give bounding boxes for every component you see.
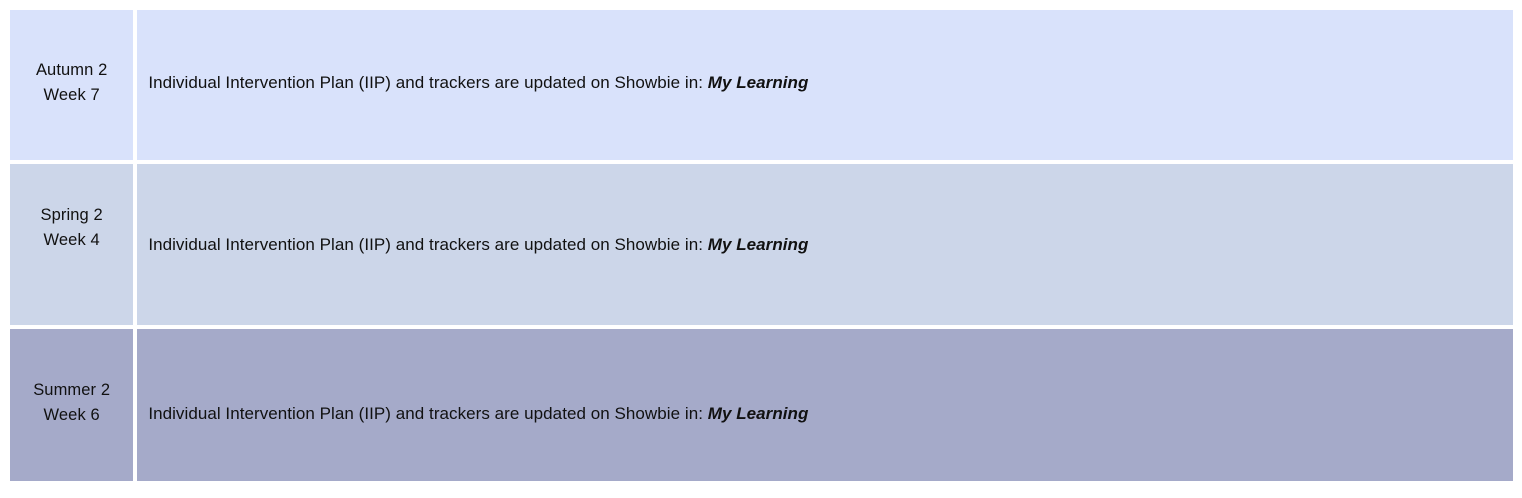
body-cell-inner: Individual Intervention Plan (IIP) and t… <box>137 402 1513 426</box>
intervention-schedule-table: Autumn 2 Week 7 Individual Intervention … <box>10 10 1513 481</box>
term-label: Summer 2 Week 6 <box>10 378 133 428</box>
table-body: Autumn 2 Week 7 Individual Intervention … <box>10 10 1513 481</box>
body-text-emphasis: My Learning <box>708 235 809 254</box>
body-text-prefix: Individual Intervention Plan (IIP) and t… <box>148 73 707 92</box>
body-cell-spring: Individual Intervention Plan (IIP) and t… <box>137 164 1513 329</box>
term-cell-spring: Spring 2 Week 4 <box>10 164 137 329</box>
body-text-prefix: Individual Intervention Plan (IIP) and t… <box>148 404 707 423</box>
term-label: Autumn 2 Week 7 <box>10 58 133 108</box>
body-text: Individual Intervention Plan (IIP) and t… <box>137 233 1513 257</box>
page-canvas: Autumn 2 Week 7 Individual Intervention … <box>0 0 1522 498</box>
term-label: Spring 2 Week 4 <box>10 203 133 253</box>
body-text: Individual Intervention Plan (IIP) and t… <box>137 71 1513 95</box>
table-row: Autumn 2 Week 7 Individual Intervention … <box>10 10 1513 164</box>
body-cell-inner: Individual Intervention Plan (IIP) and t… <box>137 71 1513 95</box>
table-row: Summer 2 Week 6 Individual Intervention … <box>10 329 1513 481</box>
term-cell-inner: Spring 2 Week 4 <box>10 203 133 253</box>
term-cell-inner: Autumn 2 Week 7 <box>10 58 133 108</box>
body-text-emphasis: My Learning <box>708 404 809 423</box>
body-text-emphasis: My Learning <box>708 73 809 92</box>
table-row: Spring 2 Week 4 Individual Intervention … <box>10 164 1513 329</box>
body-text: Individual Intervention Plan (IIP) and t… <box>137 402 1513 426</box>
term-cell-inner: Summer 2 Week 6 <box>10 378 133 428</box>
term-cell-summer: Summer 2 Week 6 <box>10 329 137 481</box>
body-cell-autumn: Individual Intervention Plan (IIP) and t… <box>137 10 1513 164</box>
term-cell-autumn: Autumn 2 Week 7 <box>10 10 137 164</box>
body-cell-summer: Individual Intervention Plan (IIP) and t… <box>137 329 1513 481</box>
body-text-prefix: Individual Intervention Plan (IIP) and t… <box>148 235 707 254</box>
body-cell-inner: Individual Intervention Plan (IIP) and t… <box>137 233 1513 257</box>
